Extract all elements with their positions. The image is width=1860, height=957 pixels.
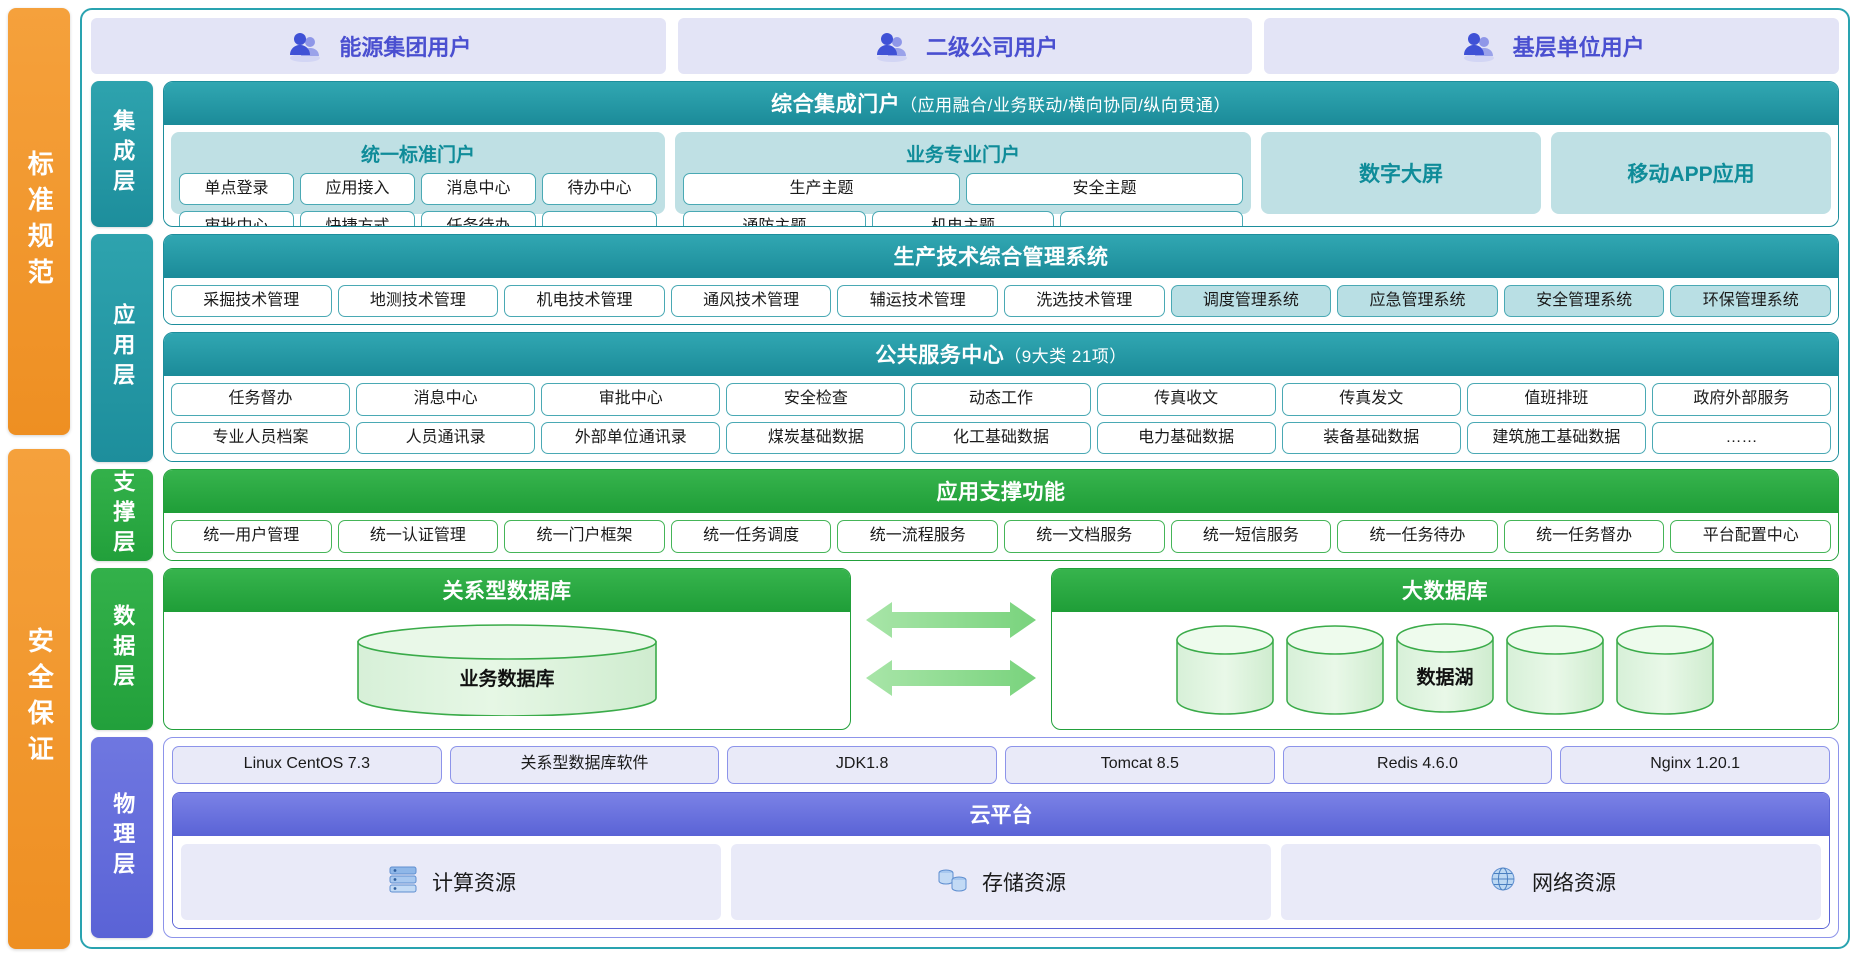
- integrated-portal-body: 统一标准门户 单点登录 应用接入 消息中心 待办中心 审批中心 快捷方式 任务待…: [164, 125, 1838, 221]
- support-item[interactable]: 统一认证管理: [338, 520, 499, 552]
- standard-portal-title: 统一标准门户: [179, 138, 657, 173]
- software-item[interactable]: Linux CentOS 7.3: [172, 746, 442, 784]
- data-layer-row: 数据层 关系型数据库: [91, 568, 1839, 730]
- network-resource-label: 网络资源: [1532, 867, 1616, 897]
- physical-layer-panel: Linux CentOS 7.3 关系型数据库软件 JDK1.8 Tomcat …: [163, 737, 1839, 938]
- user-types-row: 能源集团用户 二级公司用户: [91, 18, 1839, 74]
- service-center-card: 公共服务中心（9大类 21项） 任务督办 消息中心 审批中心 安全检查 动态工作…: [163, 332, 1839, 462]
- production-system-title: 生产技术综合管理系统: [164, 235, 1838, 278]
- compute-resource-box[interactable]: 计算资源: [181, 844, 721, 920]
- portal-item[interactable]: 待办中心: [542, 173, 657, 205]
- left-vertical-bars: 标准规范 安全保证: [8, 8, 70, 949]
- system-module[interactable]: 采掘技术管理: [171, 285, 332, 317]
- business-portal-box: 业务专业门户 生产主题 安全主题 通防主题 机电主题 ……: [675, 132, 1251, 214]
- user-type-label: 能源集团用户: [339, 30, 471, 62]
- system-module[interactable]: 通风技术管理: [671, 285, 832, 317]
- service-item[interactable]: 传真收文: [1097, 383, 1276, 415]
- database-cluster-icon: [936, 864, 970, 900]
- globe-network-icon: [1486, 864, 1520, 900]
- portal-item[interactable]: ……: [542, 211, 657, 227]
- software-item[interactable]: Nginx 1.20.1: [1560, 746, 1830, 784]
- software-item[interactable]: JDK1.8: [727, 746, 997, 784]
- bigdata-database-title: 大数据库: [1052, 569, 1838, 612]
- system-module-highlighted[interactable]: 应急管理系统: [1337, 285, 1498, 317]
- support-functions-items: 统一用户管理 统一认证管理 统一门户框架 统一任务调度 统一流程服务 统一文档服…: [171, 520, 1831, 552]
- support-layer-body: 应用支撑功能 统一用户管理 统一认证管理 统一门户框架 统一任务调度 统一流程服…: [163, 469, 1839, 560]
- service-item[interactable]: ……: [1652, 422, 1831, 454]
- data-cylinder: [1284, 624, 1386, 716]
- users-icon: [1459, 29, 1499, 63]
- bigdata-database-body: 数据湖: [1052, 612, 1838, 729]
- storage-resource-box[interactable]: 存储资源: [731, 844, 1271, 920]
- service-item[interactable]: 化工基础数据: [911, 422, 1090, 454]
- system-module[interactable]: 地测技术管理: [338, 285, 499, 317]
- support-item[interactable]: 统一门户框架: [504, 520, 665, 552]
- business-database-cylinder: 业务数据库: [459, 650, 554, 691]
- integration-layer-body: 综合集成门户（应用融合/业务联动/横向协同/纵向贯通） 统一标准门户 单点登录 …: [163, 81, 1839, 227]
- data-cylinder: [1174, 624, 1276, 716]
- mobile-app-label: 移动APP应用: [1627, 158, 1754, 188]
- user-type-group[interactable]: 基层单位用户: [1264, 18, 1839, 74]
- layer-tag-integration-label: 集成层: [109, 109, 135, 199]
- portal-item[interactable]: 应用接入: [300, 173, 415, 205]
- relational-database-title: 关系型数据库: [164, 569, 850, 612]
- service-item[interactable]: 建筑施工基础数据: [1467, 422, 1646, 454]
- layer-tag-data-label: 数据层: [109, 604, 135, 694]
- data-layer-body: 关系型数据库: [163, 568, 1839, 730]
- production-system-body: 采掘技术管理 地测技术管理 机电技术管理 通风技术管理 辅运技术管理 洗选技术管…: [164, 278, 1838, 324]
- layer-tag-integration: 集成层: [91, 81, 153, 227]
- system-module[interactable]: 机电技术管理: [504, 285, 665, 317]
- arrow-right-icon: [866, 600, 1036, 640]
- support-item[interactable]: 统一短信服务: [1171, 520, 1332, 552]
- layer-tag-support-label: 支撑层: [109, 470, 135, 560]
- system-module[interactable]: 辅运技术管理: [837, 285, 998, 317]
- portal-grid: 统一标准门户 单点登录 应用接入 消息中心 待办中心 审批中心 快捷方式 任务待…: [171, 132, 1831, 214]
- service-item[interactable]: 传真发文: [1282, 383, 1461, 415]
- server-stack-icon: [386, 864, 420, 900]
- portal-item[interactable]: 机电主题: [872, 211, 1055, 227]
- system-module[interactable]: 洗选技术管理: [1004, 285, 1165, 317]
- standard-portal-items: 单点登录 应用接入 消息中心 待办中心 审批中心 快捷方式 任务待办 ……: [179, 173, 657, 227]
- service-center-subtitle: （9大类 21项）: [1004, 347, 1127, 366]
- digital-screen-box[interactable]: 数字大屏: [1261, 132, 1541, 214]
- user-type-group[interactable]: 二级公司用户: [678, 18, 1253, 74]
- sidebar-standard-spec-label: 标准规范: [23, 150, 56, 294]
- system-module-highlighted[interactable]: 安全管理系统: [1504, 285, 1665, 317]
- system-module-highlighted[interactable]: 调度管理系统: [1171, 285, 1332, 317]
- service-item[interactable]: 装备基础数据: [1282, 422, 1461, 454]
- software-item[interactable]: 关系型数据库软件: [450, 746, 720, 784]
- layer-tag-application-label: 应用层: [109, 303, 135, 393]
- storage-resource-label: 存储资源: [982, 867, 1066, 897]
- portal-item[interactable]: 生产主题: [683, 173, 960, 205]
- physical-layer-row: 物理层 Linux CentOS 7.3 关系型数据库软件 JDK1.8 Tom…: [91, 737, 1839, 938]
- architecture-diagram: 标准规范 安全保证 能源集团用户: [0, 0, 1860, 957]
- standard-portal-box: 统一标准门户 单点登录 应用接入 消息中心 待办中心 审批中心 快捷方式 任务待…: [171, 132, 665, 214]
- layer-tag-physical-label: 物理层: [109, 792, 135, 882]
- layer-tag-physical: 物理层: [91, 737, 153, 938]
- integrated-portal-title-main: 综合集成门户: [771, 93, 900, 116]
- integrated-portal-subtitle: （应用融合/业务联动/横向协同/纵向贯通）: [900, 96, 1231, 115]
- system-module-highlighted[interactable]: 环保管理系统: [1670, 285, 1831, 317]
- support-item[interactable]: 统一任务督办: [1504, 520, 1665, 552]
- service-item[interactable]: 审批中心: [541, 383, 720, 415]
- cloud-resources-row: 计算资源: [173, 836, 1829, 928]
- service-item[interactable]: 任务督办: [171, 383, 350, 415]
- integrated-portal-title: 综合集成门户（应用融合/业务联动/横向协同/纵向贯通）: [164, 82, 1838, 125]
- application-layer-row: 应用层 生产技术综合管理系统 采掘技术管理 地测技术管理 机电技术管理 通风技术…: [91, 234, 1839, 462]
- cloud-platform-title: 云平台: [173, 793, 1829, 836]
- service-item[interactable]: 动态工作: [911, 383, 1090, 415]
- portal-item[interactable]: 消息中心: [421, 173, 536, 205]
- service-item[interactable]: 煤炭基础数据: [726, 422, 905, 454]
- integration-layer-row: 集成层 综合集成门户（应用融合/业务联动/横向协同/纵向贯通） 统一标准门户 单…: [91, 81, 1839, 227]
- users-icon: [872, 29, 912, 63]
- portal-item[interactable]: 任务待办: [421, 211, 536, 227]
- user-type-label: 基层单位用户: [1513, 30, 1645, 62]
- software-stack-row: Linux CentOS 7.3 关系型数据库软件 JDK1.8 Tomcat …: [172, 746, 1830, 784]
- support-functions-title: 应用支撑功能: [164, 470, 1838, 513]
- service-center-items: 任务督办 消息中心 审批中心 安全检查 动态工作 传真收文 传真发文 值班排班 …: [171, 383, 1831, 454]
- network-resource-box[interactable]: 网络资源: [1281, 844, 1821, 920]
- user-type-label: 二级公司用户: [926, 30, 1058, 62]
- portal-item[interactable]: 审批中心: [179, 211, 294, 227]
- support-item[interactable]: 统一任务待办: [1337, 520, 1498, 552]
- service-item[interactable]: 专业人员档案: [171, 422, 350, 454]
- sidebar-security-guarantee-label: 安全保证: [23, 627, 56, 771]
- portal-item[interactable]: 安全主题: [966, 173, 1243, 205]
- production-system-card: 生产技术综合管理系统 采掘技术管理 地测技术管理 机电技术管理 通风技术管理 辅…: [163, 234, 1839, 325]
- service-item[interactable]: 电力基础数据: [1097, 422, 1276, 454]
- data-lake-label: 数据湖: [1416, 662, 1473, 689]
- main-panel: 能源集团用户 二级公司用户: [80, 8, 1850, 949]
- service-center-body: 任务督办 消息中心 审批中心 安全检查 动态工作 传真收文 传真发文 值班排班 …: [164, 376, 1838, 461]
- mobile-app-box[interactable]: 移动APP应用: [1551, 132, 1831, 214]
- layer-tag-application: 应用层: [91, 234, 153, 462]
- layer-tag-support: 支撑层: [91, 469, 153, 560]
- service-item[interactable]: 安全检查: [726, 383, 905, 415]
- compute-resource-label: 计算资源: [432, 867, 516, 897]
- service-center-title: 公共服务中心（9大类 21项）: [164, 333, 1838, 376]
- arrow-left-icon: [866, 658, 1036, 698]
- sidebar-standard-spec: 标准规范: [8, 8, 70, 435]
- production-system-items: 采掘技术管理 地测技术管理 机电技术管理 通风技术管理 辅运技术管理 洗选技术管…: [171, 285, 1831, 317]
- support-functions-card: 应用支撑功能 统一用户管理 统一认证管理 统一门户框架 统一任务调度 统一流程服…: [163, 469, 1839, 560]
- portal-item[interactable]: 单点登录: [179, 173, 294, 205]
- digital-screen-label: 数字大屏: [1359, 158, 1443, 188]
- support-functions-body: 统一用户管理 统一认证管理 统一门户框架 统一任务调度 统一流程服务 统一文档服…: [164, 513, 1838, 559]
- bigdata-database-card: 大数据库: [1051, 568, 1839, 730]
- cloud-platform-card: 云平台: [172, 792, 1830, 929]
- service-item[interactable]: 人员通讯录: [356, 422, 535, 454]
- data-exchange-arrows: [851, 568, 1051, 730]
- support-item[interactable]: 统一任务调度: [671, 520, 832, 552]
- integrated-portal-card: 综合集成门户（应用融合/业务联动/横向协同/纵向贯通） 统一标准门户 单点登录 …: [163, 81, 1839, 227]
- service-item[interactable]: 消息中心: [356, 383, 535, 415]
- business-database-label: 业务数据库: [459, 664, 554, 691]
- relational-database-body: 业务数据库: [164, 612, 850, 729]
- portal-item[interactable]: 快捷方式: [300, 211, 415, 227]
- sidebar-security-guarantee: 安全保证: [8, 449, 70, 949]
- data-cylinder: [1504, 624, 1606, 716]
- physical-layer-body: Linux CentOS 7.3 关系型数据库软件 JDK1.8 Tomcat …: [163, 737, 1839, 938]
- data-cylinder: [1614, 624, 1716, 716]
- support-item[interactable]: 平台配置中心: [1670, 520, 1831, 552]
- support-item[interactable]: 统一流程服务: [837, 520, 998, 552]
- support-layer-row: 支撑层 应用支撑功能 统一用户管理 统一认证管理 统一门户框架 统一任务调度 统…: [91, 469, 1839, 560]
- business-portal-title: 业务专业门户: [683, 138, 1243, 173]
- business-portal-items-row2: 通防主题 机电主题 ……: [683, 211, 1243, 227]
- software-item[interactable]: Tomcat 8.5: [1005, 746, 1275, 784]
- application-layer-body: 生产技术综合管理系统 采掘技术管理 地测技术管理 机电技术管理 通风技术管理 辅…: [163, 234, 1839, 462]
- service-item[interactable]: 值班排班: [1467, 383, 1646, 415]
- portal-item[interactable]: 通防主题: [683, 211, 866, 227]
- service-item[interactable]: 外部单位通讯录: [541, 422, 720, 454]
- software-item[interactable]: Redis 4.6.0: [1283, 746, 1553, 784]
- support-item[interactable]: 统一文档服务: [1004, 520, 1165, 552]
- business-portal-items-row1: 生产主题 安全主题: [683, 173, 1243, 205]
- portal-item[interactable]: ……: [1060, 211, 1243, 227]
- layer-tag-data: 数据层: [91, 568, 153, 730]
- user-type-group[interactable]: 能源集团用户: [91, 18, 666, 74]
- users-icon: [285, 29, 325, 63]
- service-center-title-main: 公共服务中心: [875, 344, 1004, 367]
- support-item[interactable]: 统一用户管理: [171, 520, 332, 552]
- service-item[interactable]: 政府外部服务: [1652, 383, 1831, 415]
- relational-database-card: 关系型数据库: [163, 568, 851, 730]
